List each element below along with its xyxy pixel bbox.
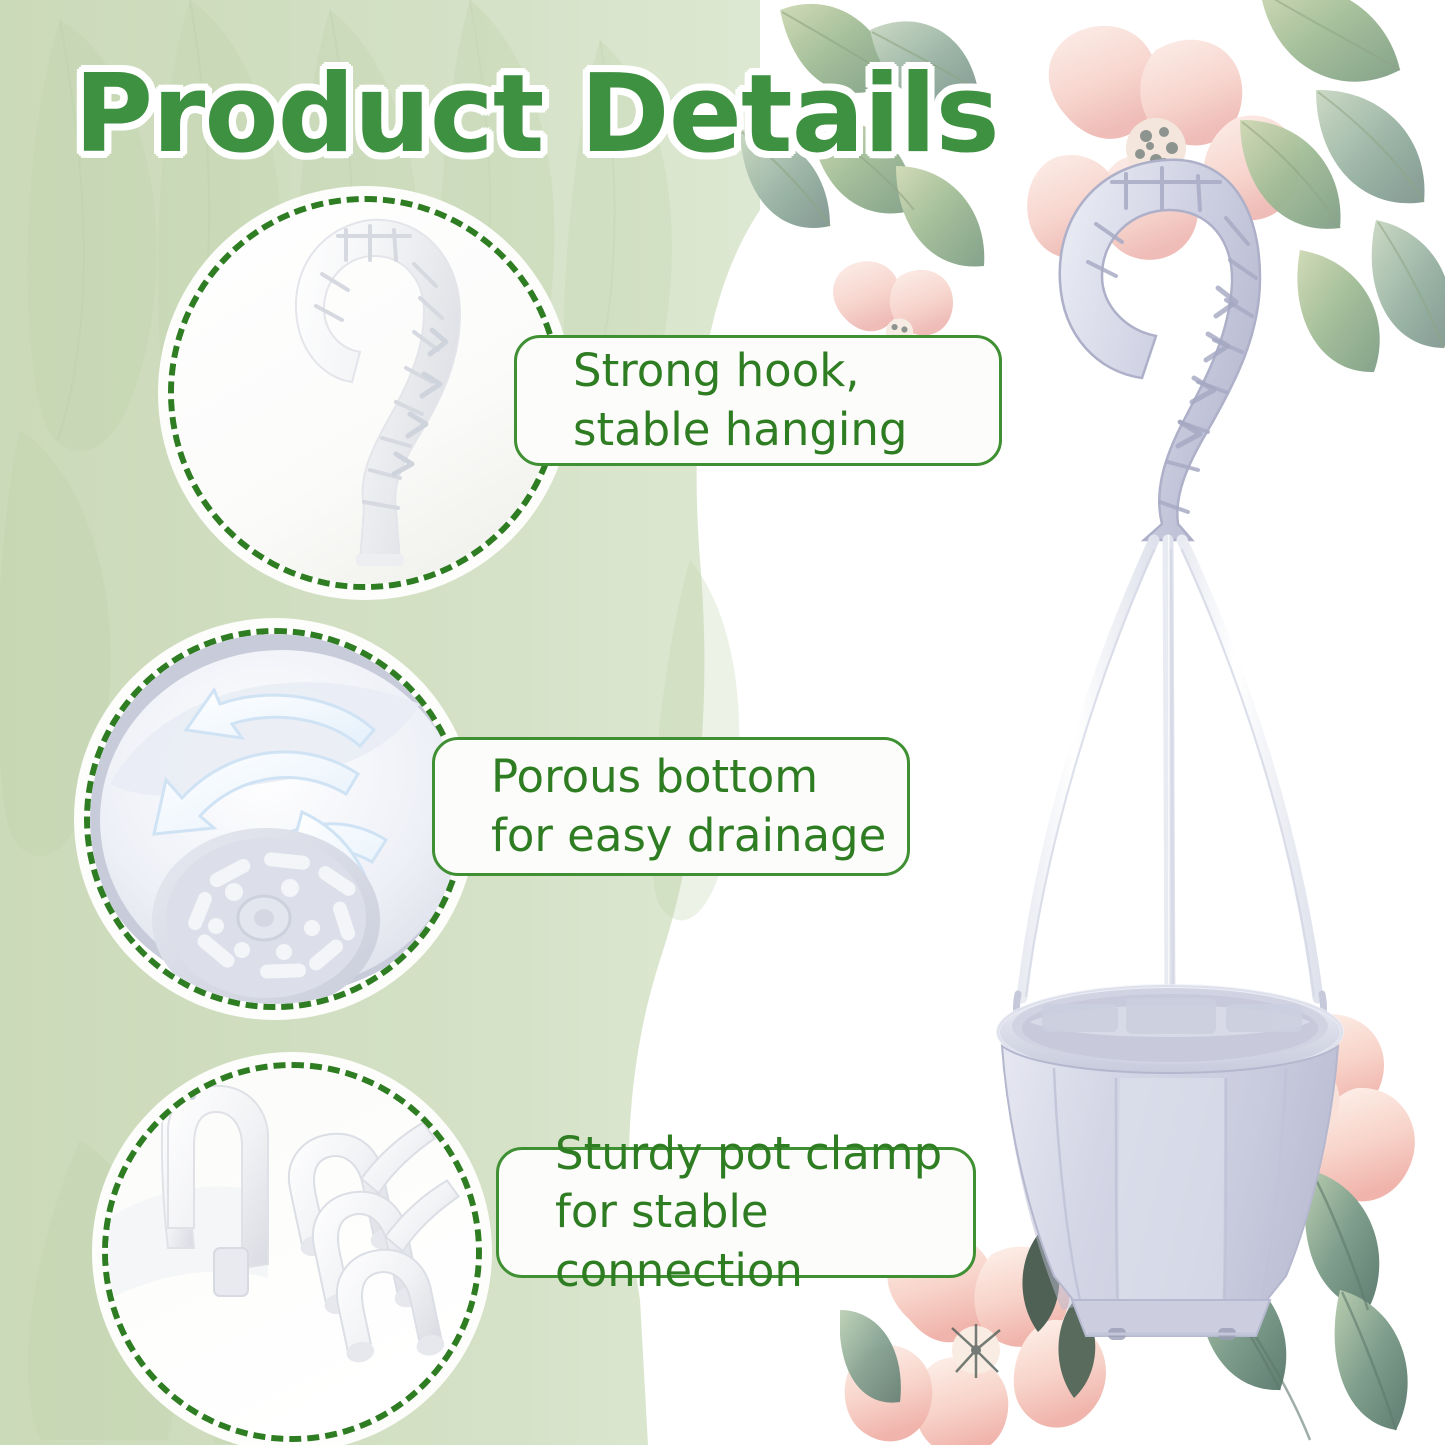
feature-image-pot-clamp: [102, 1062, 482, 1442]
callout-porous-bottom: Porous bottom for easy drainage: [432, 737, 910, 876]
page-title: Product Details: [74, 52, 999, 177]
clamp-closeup-image: [108, 1068, 476, 1436]
callout-strong-hook-text: Strong hook, stable hanging: [573, 342, 908, 459]
rope-part: [1022, 540, 1318, 1010]
callout-pot-clamp-text: Sturdy pot clamp for stable connection: [555, 1125, 973, 1301]
product-hero-image: [930, 120, 1400, 1330]
pot-part: [998, 986, 1342, 1340]
drainage-closeup-image: [90, 634, 460, 1004]
product-details-infographic: Product Details: [0, 0, 1445, 1445]
hook-part: [1060, 160, 1260, 540]
feature-image-porous-bottom: [84, 628, 466, 1010]
feature-image-strong-hook: [168, 196, 562, 590]
hook-closeup-image: [174, 202, 556, 584]
callout-strong-hook: Strong hook, stable hanging: [514, 335, 1002, 466]
callout-pot-clamp: Sturdy pot clamp for stable connection: [496, 1147, 976, 1278]
callout-porous-bottom-text: Porous bottom for easy drainage: [491, 748, 886, 865]
